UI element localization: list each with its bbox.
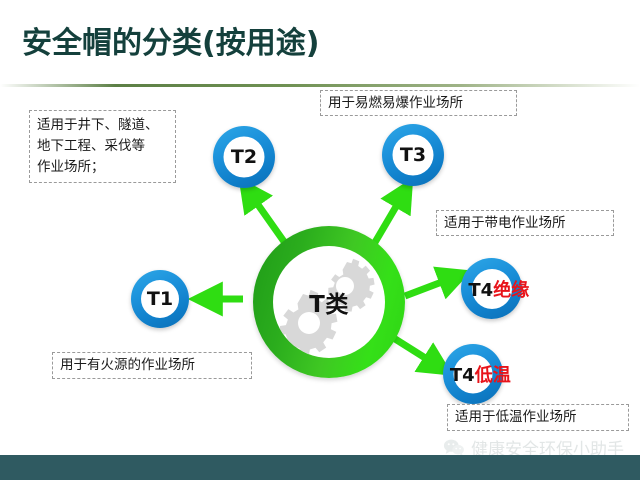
title-divider <box>0 84 640 87</box>
node-t1[interactable]: T1 <box>131 270 189 328</box>
slide-canvas: 安全帽的分类(按用途) <box>0 0 640 480</box>
note-t2: 适用于井下、隧道、 地下工程、采伐等 作业场所； <box>29 110 176 183</box>
node-t4-insulated[interactable]: T4绝缘 <box>461 258 522 319</box>
note-t1: 用于有火源的作业场所 <box>52 352 252 379</box>
node-t2-label: T2 <box>231 146 257 168</box>
node-t4-coldproof-suffix: 低温 <box>475 365 511 386</box>
node-t3[interactable]: T3 <box>382 124 444 186</box>
hub-circle[interactable]: T类 <box>253 226 405 378</box>
node-t4-coldproof-label: T4低温 <box>450 361 511 387</box>
note-t4-coldproof: 适用于低温作业场所 <box>447 404 629 431</box>
note-t3: 用于易燃易爆作业场所 <box>320 90 517 116</box>
node-t2[interactable]: T2 <box>213 126 275 188</box>
node-t4-coldproof-code: T4 <box>450 365 475 386</box>
footer-bar <box>0 455 640 480</box>
node-t3-label: T3 <box>400 144 426 166</box>
hub-label: T类 <box>309 285 349 319</box>
arrow-to-t3 <box>374 193 404 244</box>
node-t4-insulated-label: T4绝缘 <box>468 276 529 302</box>
arrow-to-t2 <box>249 192 285 243</box>
node-t4-coldproof[interactable]: T4低温 <box>443 344 503 404</box>
note-t4-insulated: 适用于带电作业场所 <box>436 210 614 236</box>
node-t1-label: T1 <box>147 288 173 310</box>
node-t4-insulated-code: T4 <box>468 280 493 301</box>
page-title: 安全帽的分类(按用途) <box>22 18 319 62</box>
arrow-to-t4-insulated <box>405 277 455 296</box>
hub-inner: T类 <box>273 246 385 358</box>
arrow-to-t4-coldproof <box>392 337 438 366</box>
node-t4-insulated-suffix: 绝缘 <box>493 280 529 301</box>
